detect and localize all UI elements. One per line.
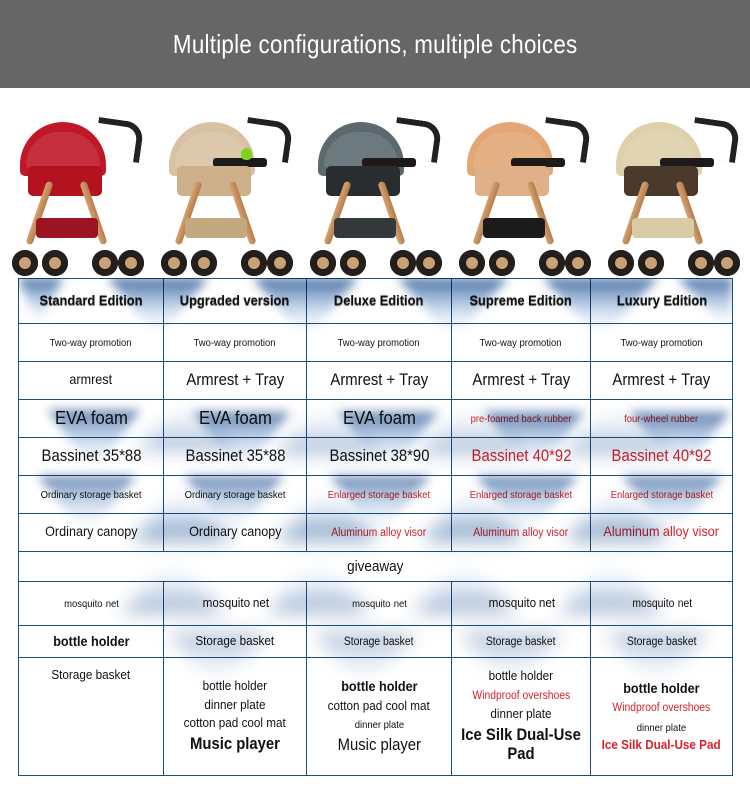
gift-item: Storage basket [627,634,697,651]
table-body: Two-way promotionTwo-way promotionTwo-wa… [19,324,733,776]
column-header-label: Supreme Edition [470,292,572,308]
feature-value: Ordinary storage basket [41,489,142,501]
gift-item: mosquito [632,596,674,613]
stroller-handle [93,117,144,163]
feature-row-wheels: EVA foamEVA foamEVA foampre-foamed back … [19,400,733,438]
giveaway-label: giveaway [347,558,403,575]
feature-value: Enlarged storage basket [610,489,712,501]
feature-value: Ordinary storage basket [185,489,286,501]
gift-cell: mosquitonet [19,582,164,626]
gift-list: bottle holderWindproof overshoesdinner p… [454,667,588,766]
gift-list: Storage basket [166,632,304,651]
stroller-wheel [12,250,38,276]
gift-cell: bottle holderWindproof overshoesdinner p… [591,658,733,776]
feature-value: Two-way promotion [338,337,420,349]
giveaway-label-cell: giveaway [19,552,733,582]
gift-list: mosquitonet [593,594,730,613]
gift-item: mosquito [202,594,249,613]
feature-cell: Aluminum alloy visor [307,514,452,552]
gift-item: bottle holder [53,631,129,651]
stroller-wheel [565,250,591,276]
stroller-wheel [688,250,714,276]
page-title: Multiple configurations, multiple choice… [173,29,578,60]
stroller-wheel [608,250,634,276]
stroller-seat [326,166,400,196]
feature-value: pre-foamed back rubber [471,413,572,425]
feature-cell: four-wheel rubber [591,400,733,438]
feature-cell: Armrest + Tray [591,362,733,400]
gift-item: bottle holder [623,678,699,698]
gift-list: Storage basket [309,632,449,651]
column-header-label: Luxury Edition [616,292,706,308]
table-header: Standard EditionUpgraded versionDeluxe E… [19,279,733,324]
stroller-seat [28,166,102,196]
stroller-wheel [241,250,267,276]
column-header-label: Deluxe Edition [334,292,423,308]
stroller-wheel [539,250,565,276]
stroller-basket [483,218,545,238]
stroller-basket [185,218,247,238]
gift-item: bottle holder [341,676,417,696]
stroller-seat [624,166,698,196]
gift-item: net [106,596,119,612]
gift-row-remaining-gifts: Storage basketbottle holderdinner platec… [19,658,733,776]
gift-cell: bottle holderWindproof overshoesdinner p… [452,658,591,776]
feature-value: EVA foam [343,407,416,428]
column-header-3[interactable]: Deluxe Edition [307,279,452,324]
gift-item: net [394,596,407,612]
feature-value: EVA foam [55,407,128,428]
gift-cell: bottle holder [19,626,164,658]
gift-list: mosquitonet [454,594,588,613]
gift-cell: mosquitonet [452,582,591,626]
feature-cell: Aluminum alloy visor [452,514,591,552]
gift-cell: Storage basket [307,626,452,658]
feature-cell: pre-foamed back rubber [452,400,591,438]
gift-item: Storage basket [196,632,275,651]
configuration-comparison-table: Standard EditionUpgraded versionDeluxe E… [18,278,733,776]
feature-value: Bassinet 40*92 [612,447,712,466]
feature-cell: armrest [19,362,164,400]
gift-item: Storage basket [486,634,556,651]
stroller-handle [689,117,740,163]
feature-value: Ordinary canopy [45,523,137,539]
stroller-wheel [416,250,442,276]
stroller-wheel [638,250,664,276]
feature-value: Bassinet 35*88 [185,447,285,466]
stroller-wheel [118,250,144,276]
gift-item: Ice Silk Dual-Use Pad [461,724,582,766]
feature-cell: Armrest + Tray [452,362,591,400]
gift-row-mosquito-net: mosquitonetmosquitonetmosquitonetmosquit… [19,582,733,626]
feature-cell: Aluminum alloy visor [591,514,733,552]
gift-list: bottle holder [21,631,161,651]
gift-list: Storage basket [593,632,730,651]
gift-item: bottle holder [203,677,267,696]
gift-item: dinner plate [490,705,551,724]
feature-cell: Armrest + Tray [164,362,307,400]
stroller-wheel [310,250,336,276]
feature-row-promotion: Two-way promotionTwo-way promotionTwo-wa… [19,324,733,362]
feature-value: Two-way promotion [50,337,132,349]
gift-item: cotton pad cool mat [328,697,430,716]
gift-list: Storage basket [454,632,588,651]
feature-cell: Enlarged storage basket [452,476,591,514]
gift-list: mosquitonet [309,594,449,612]
stroller-khaki [155,106,297,278]
gift-row-second-gift: bottle holderStorage basketStorage baske… [19,626,733,658]
gift-cell: mosquitonet [307,582,452,626]
gift-cell: bottle holderdinner platecotton pad cool… [164,658,307,776]
feature-cell: EVA foam [307,400,452,438]
feature-row-bassinet: Bassinet 35*88Bassinet 35*88Bassinet 38*… [19,438,733,476]
column-header-2[interactable]: Upgraded version [164,279,307,324]
gift-item: dinner plate [354,717,403,733]
feature-cell: Ordinary storage basket [164,476,307,514]
stroller-gray [304,106,446,278]
feature-cell: Ordinary canopy [19,514,164,552]
column-header-label: Standard Edition [39,292,142,308]
feature-row-canopy: Ordinary canopyOrdinary canopyAluminum a… [19,514,733,552]
stroller-beige [602,106,744,278]
feature-value: Armrest + Tray [613,371,711,390]
gift-item: Windproof overshoes [472,688,570,705]
stroller-wheel [340,250,366,276]
stroller-red [6,106,148,278]
feature-cell: Two-way promotion [591,324,733,362]
stroller-wheel [161,250,187,276]
gift-item: bottle holder [489,667,553,686]
gift-list: bottle holderdinner platecotton pad cool… [166,677,304,757]
feature-cell: Armrest + Tray [307,362,452,400]
gift-item: mosquito [488,594,535,613]
gift-item: net [539,594,555,613]
feature-value: armrest [70,371,113,387]
feature-cell: Ordinary canopy [164,514,307,552]
stroller-toy-icon [241,148,252,160]
stroller-wheel [92,250,118,276]
gift-item: dinner plate [637,720,686,736]
feature-cell: Bassinet 35*88 [19,438,164,476]
table-header-row: Standard EditionUpgraded versionDeluxe E… [19,279,733,324]
gift-cell: Storage basket [591,626,733,658]
feature-value: Enlarged storage basket [328,489,430,501]
gift-item: Music player [337,734,420,757]
stroller-handle [391,117,442,163]
feature-cell: Bassinet 40*92 [452,438,591,476]
feature-value: Aluminum alloy visor [604,523,720,539]
stroller-apricot [453,106,595,278]
gift-cell: Storage basket [19,658,164,776]
feature-cell: Enlarged storage basket [307,476,452,514]
gift-list: bottle holdercotton pad cool matdinner p… [309,676,449,757]
gift-item: Storage basket [52,666,131,685]
feature-value: Bassinet 40*92 [471,447,571,466]
feature-cell: EVA foam [164,400,307,438]
column-header-5[interactable]: Luxury Edition [591,279,733,324]
stroller-basket [632,218,694,238]
feature-value: Ordinary canopy [189,523,281,539]
feature-cell: Ordinary storage basket [19,476,164,514]
product-image-strip [0,88,750,278]
stroller-wheel [267,250,293,276]
stroller-handle [540,117,591,163]
feature-value: Enlarged storage basket [470,489,572,501]
feature-value: four-wheel rubber [624,413,698,425]
gift-item: Storage basket [344,634,414,651]
comparison-table-wrapper: Standard EditionUpgraded versionDeluxe E… [18,278,732,776]
feature-value: Armrest + Tray [330,371,428,390]
gift-item: net [253,594,269,613]
feature-value: Two-way promotion [194,337,276,349]
stroller-wheel [714,250,740,276]
feature-value: Aluminum alloy visor [474,527,569,540]
feature-cell: EVA foam [19,400,164,438]
gift-list: mosquitonet [21,594,161,612]
feature-value: Armrest + Tray [186,371,284,390]
gift-item: mosquito [353,596,391,612]
gift-list: bottle holderWindproof overshoesdinner p… [593,678,730,755]
column-header-1[interactable]: Standard Edition [19,279,164,324]
feature-cell: Enlarged storage basket [591,476,733,514]
feature-value: Bassinet 38*90 [329,447,429,466]
feature-cell: Two-way promotion [164,324,307,362]
feature-value: Two-way promotion [621,337,703,349]
stroller-wheel [42,250,68,276]
feature-value: Armrest + Tray [472,371,570,390]
gift-list: mosquitonet [166,594,304,613]
gift-cell: Storage basket [452,626,591,658]
gift-cell: mosquitonet [164,582,307,626]
feature-value: EVA foam [199,407,272,428]
gift-list: Storage basket [21,666,161,685]
feature-row-armrest: armrestArmrest + TrayArmrest + TrayArmre… [19,362,733,400]
gift-item: Music player [190,733,280,756]
feature-cell: Bassinet 35*88 [164,438,307,476]
page-banner: Multiple configurations, multiple choice… [0,0,750,88]
stroller-wheel [191,250,217,276]
gift-cell: mosquitonet [591,582,733,626]
stroller-basket [36,218,98,238]
gift-item: Ice Silk Dual-Use Pad [602,736,721,755]
feature-cell: Bassinet 38*90 [307,438,452,476]
stroller-seat [177,166,251,196]
gift-item: Windproof overshoes [613,700,711,717]
feature-row-storage-basket: Ordinary storage basketOrdinary storage … [19,476,733,514]
gift-item: dinner plate [204,696,265,715]
gift-item: mosquito [65,596,103,612]
stroller-seat [475,166,549,196]
stroller-wheel [489,250,515,276]
gift-item: net [678,596,692,613]
gift-cell: bottle holdercotton pad cool matdinner p… [307,658,452,776]
gift-cell: Storage basket [164,626,307,658]
gift-item: cotton pad cool mat [184,714,286,733]
giveaway-row: giveaway [19,552,733,582]
feature-value: Bassinet 35*88 [41,447,141,466]
stroller-basket [334,218,396,238]
column-header-4[interactable]: Supreme Edition [452,279,591,324]
feature-value: Aluminum alloy visor [332,527,427,540]
stroller-wheel [459,250,485,276]
feature-cell: Bassinet 40*92 [591,438,733,476]
stroller-wheel [390,250,416,276]
feature-cell: Two-way promotion [452,324,591,362]
feature-cell: Two-way promotion [19,324,164,362]
column-header-label: Upgraded version [180,292,290,308]
feature-cell: Two-way promotion [307,324,452,362]
feature-value: Two-way promotion [480,337,562,349]
